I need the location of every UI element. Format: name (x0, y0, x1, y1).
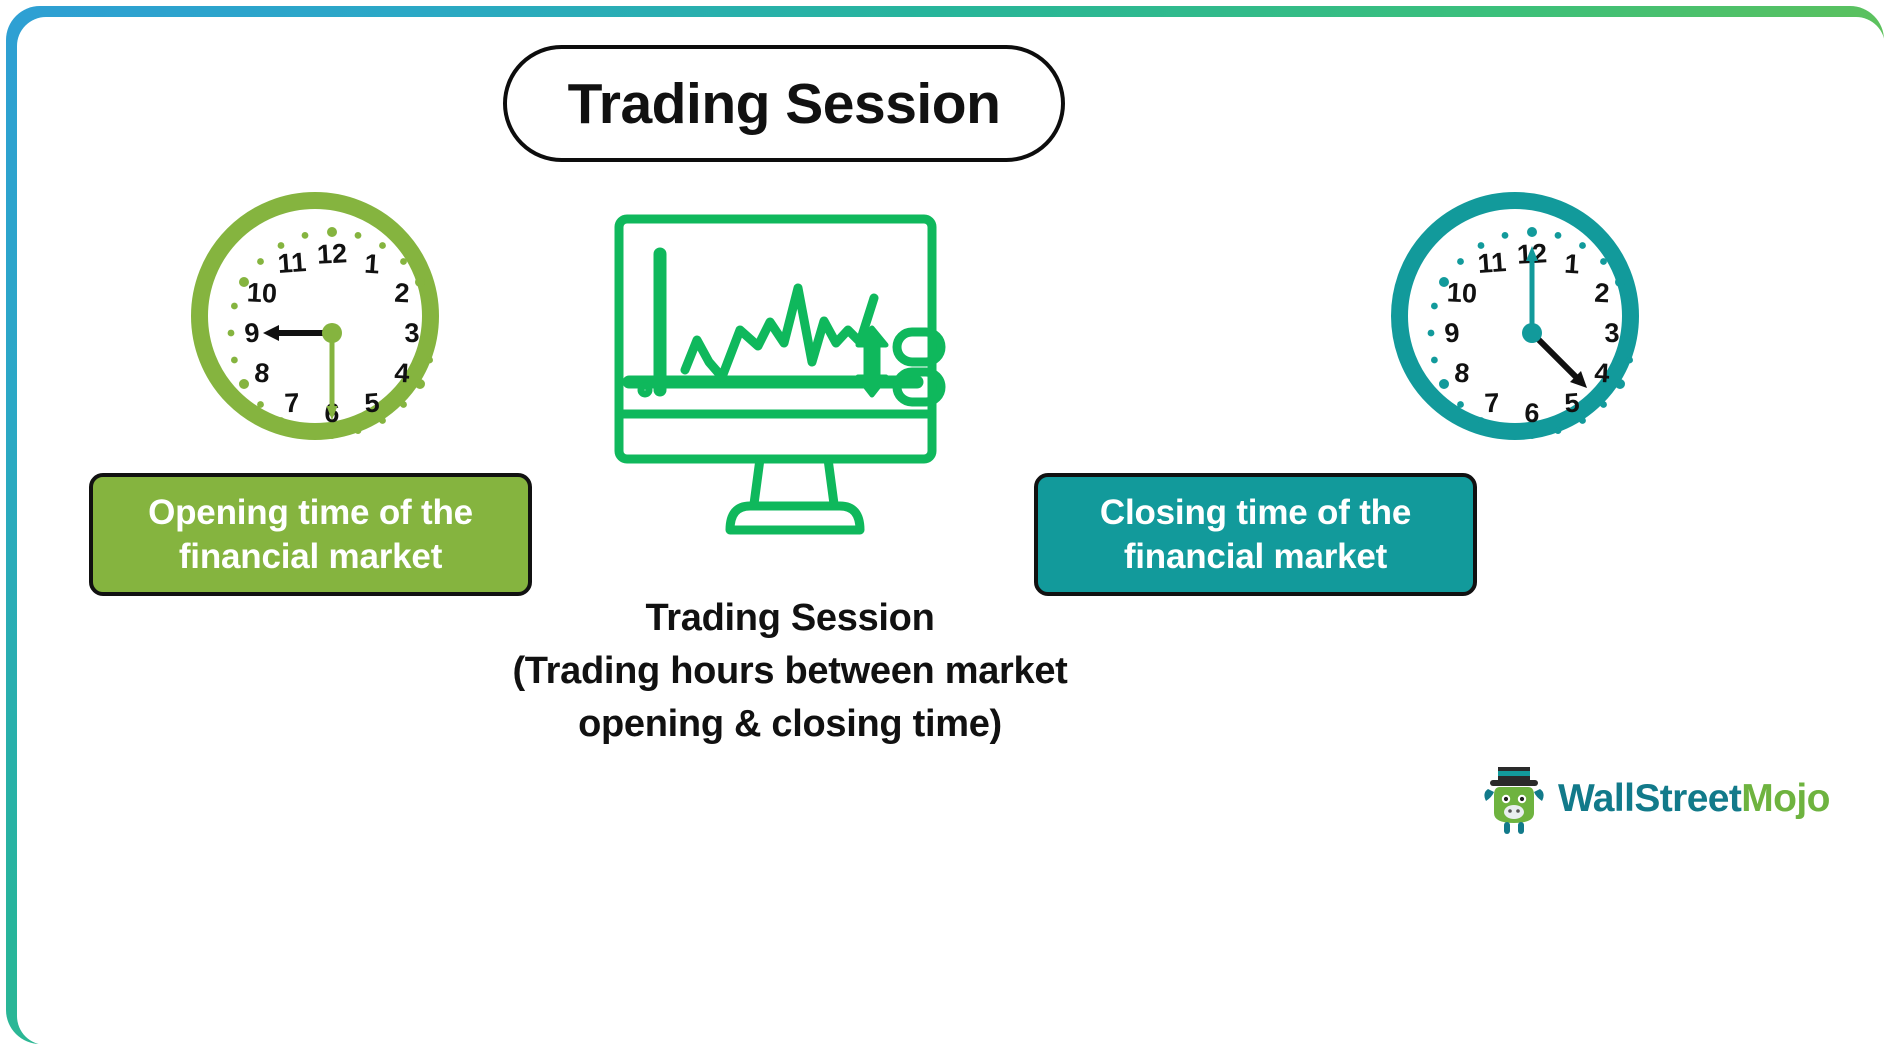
opening-label-line1: Opening time of the (148, 493, 473, 532)
svg-text:1: 1 (363, 249, 380, 280)
svg-text:5: 5 (363, 388, 380, 419)
opening-label-text: Opening time of the financial market (148, 491, 473, 579)
stock-chart-line (685, 288, 874, 377)
svg-text:1: 1 (1563, 249, 1580, 280)
wallstreetmojo-mark-icon (1478, 761, 1550, 837)
svg-text:4: 4 (394, 358, 411, 389)
svg-text:11: 11 (277, 247, 308, 279)
down-arrow-icon (858, 359, 886, 395)
svg-text:8: 8 (1453, 358, 1470, 389)
closing-clock-face: 12 1 2 3 4 5 6 7 8 9 10 11 (1391, 192, 1673, 474)
closing-clock-center-pin (1522, 323, 1542, 343)
opening-label-line2: financial market (179, 537, 442, 576)
svg-text:6: 6 (1524, 398, 1541, 429)
svg-text:10: 10 (1446, 277, 1478, 309)
svg-text:11: 11 (1477, 247, 1508, 279)
trading-monitor-illustration (612, 212, 967, 542)
page-title-pill: Trading Session (503, 45, 1065, 162)
wallstreetmojo-wordmark: WallStreetMojo (1558, 777, 1830, 821)
svg-text:8: 8 (253, 358, 270, 389)
opening-clock-hour-hand (263, 325, 332, 341)
opening-clock-minute-hand (327, 333, 338, 420)
closing-label-line1: Closing time of the (1100, 493, 1411, 532)
closing-clock-hour-hand (1532, 333, 1587, 388)
closing-clock-minute-hand (1526, 246, 1538, 333)
caption-line-3: opening & closing time) (390, 698, 1190, 751)
svg-text:9: 9 (1443, 318, 1460, 349)
opening-clock-face: 12 1 2 3 4 5 6 7 8 9 10 11 (191, 192, 473, 474)
wallstreetmojo-logo: WallStreetMojo (1478, 760, 1848, 838)
infographic-canvas: Trading Session (0, 0, 1890, 1050)
logo-mojo-text: Mojo (1741, 777, 1830, 820)
svg-text:7: 7 (1484, 388, 1501, 419)
opening-clock-center-pin (322, 323, 342, 343)
svg-text:7: 7 (284, 388, 301, 419)
closing-clock: 12 1 2 3 4 5 6 7 8 9 10 11 (1391, 192, 1639, 440)
svg-text:10: 10 (246, 277, 278, 309)
svg-text:2: 2 (394, 278, 411, 309)
svg-text:12: 12 (316, 238, 348, 270)
trading-session-caption: Trading Session (Trading hours between m… (390, 592, 1190, 752)
page-title: Trading Session (568, 71, 1001, 137)
svg-text:9: 9 (243, 318, 260, 349)
svg-text:3: 3 (404, 318, 420, 349)
logo-wallstreet-text: WallStreet (1558, 777, 1741, 820)
monitor-stand-base (730, 506, 860, 530)
chart-origin-dot (641, 386, 649, 394)
closing-label-text: Closing time of the financial market (1100, 491, 1411, 579)
svg-text:2: 2 (1594, 278, 1611, 309)
svg-text:4: 4 (1594, 358, 1611, 389)
caption-line-1: Trading Session (390, 592, 1190, 645)
closing-label-line2: financial market (1124, 537, 1387, 576)
closing-label-box: Closing time of the financial market (1034, 473, 1477, 596)
svg-text:5: 5 (1563, 388, 1580, 419)
caption-line-2: (Trading hours between market (390, 645, 1190, 698)
svg-text:3: 3 (1604, 318, 1620, 349)
opening-clock: 12 1 2 3 4 5 6 7 8 9 10 11 (191, 192, 439, 440)
monitor-stand-neck (754, 459, 834, 504)
opening-label-box: Opening time of the financial market (89, 473, 532, 596)
